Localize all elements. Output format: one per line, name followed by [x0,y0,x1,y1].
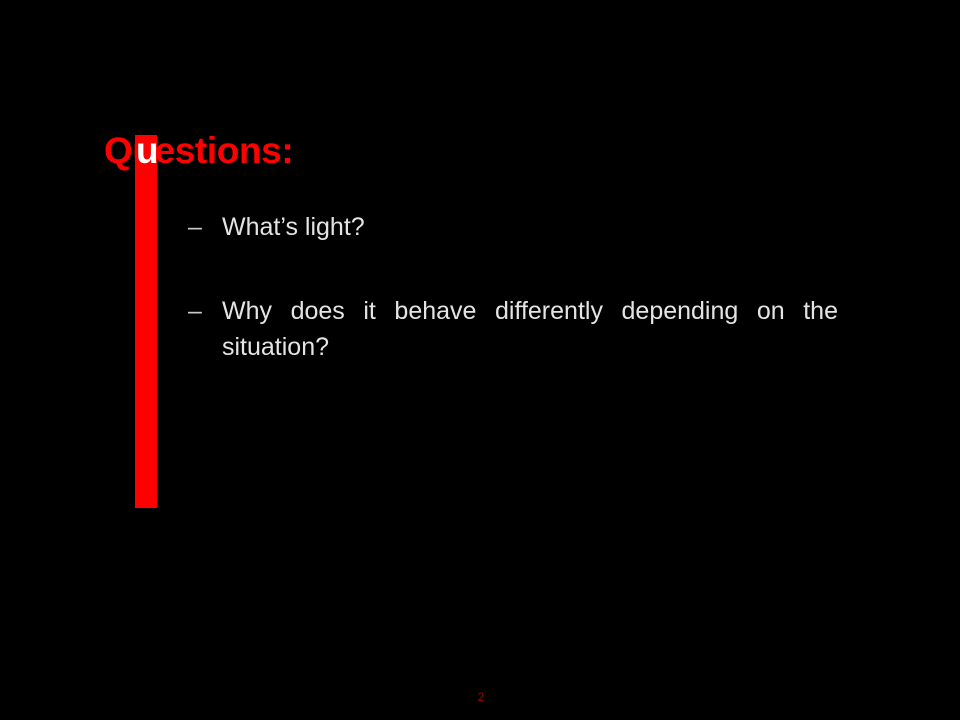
page-number: 2 [0,689,960,705]
red-accent-bar [135,135,157,508]
page-number-value: 2 [478,689,485,705]
bullet-text: Why does it behave differently depending… [222,293,838,365]
bullet-dash-icon: – [188,293,222,329]
title-knockout-letter: u [136,129,158,173]
bullet-dash-icon: – [188,209,222,245]
slide-canvas: Questions: u – What’s light? – Why does … [0,0,960,720]
page-title: Questions: [104,129,293,173]
bullet-list: – What’s light? – Why does it behave dif… [188,209,838,365]
list-item: – What’s light? [188,209,838,245]
list-item: – Why does it behave differently dependi… [188,293,838,365]
bullet-text: What’s light? [222,209,838,245]
